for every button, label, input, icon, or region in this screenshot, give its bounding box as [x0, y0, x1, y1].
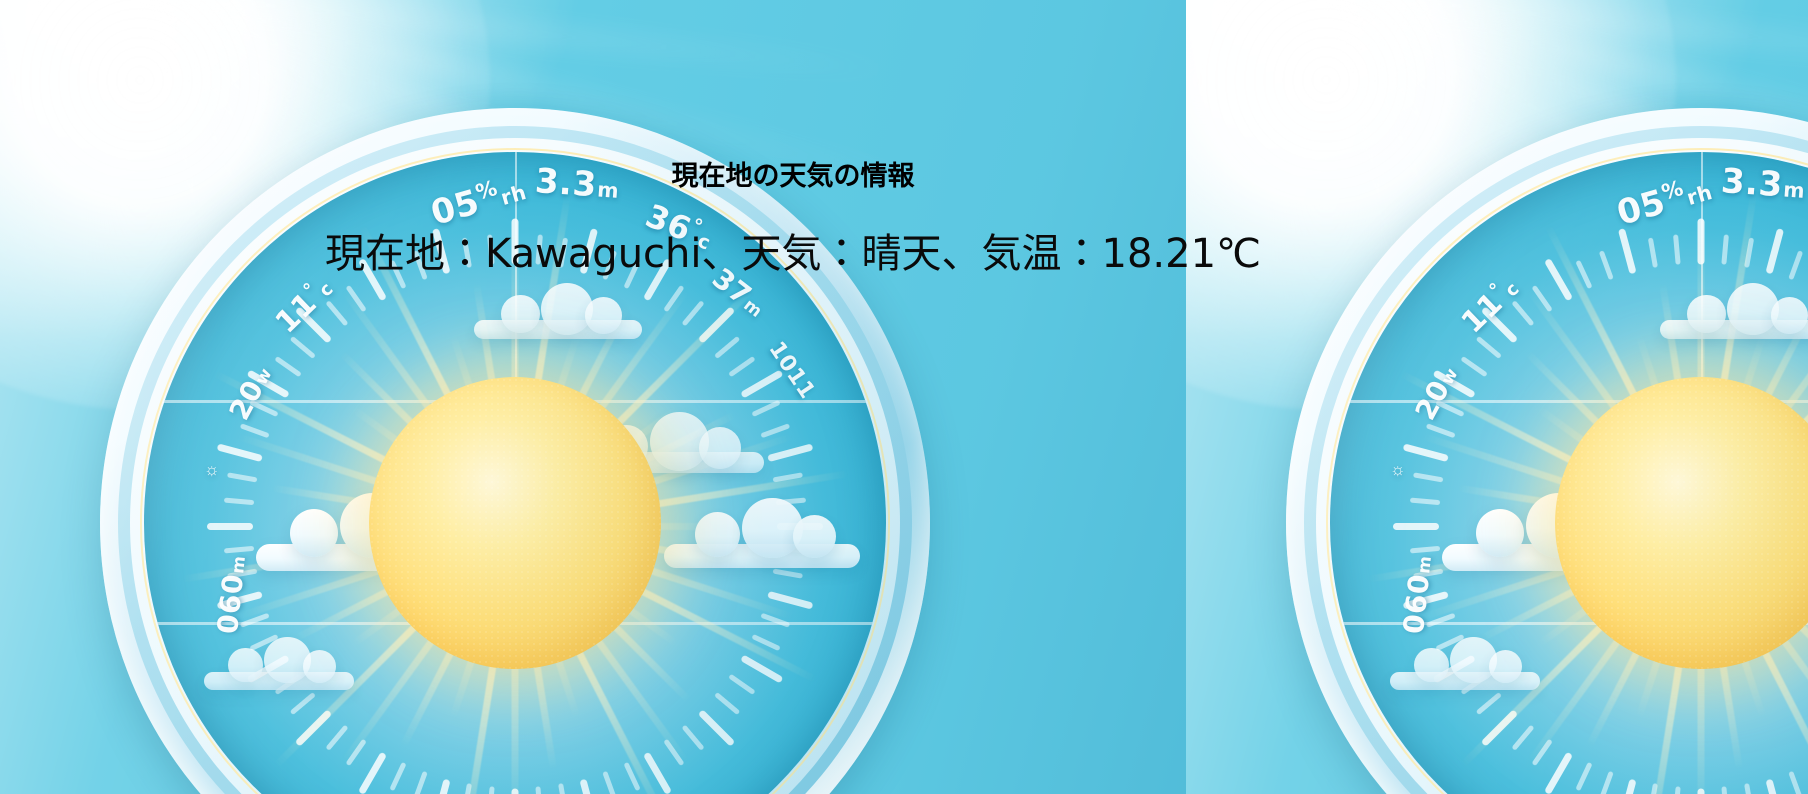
background-art-tile-primary: 05%rh3.3m36°c37m101111°c20w060m☼ — [0, 0, 1186, 794]
sky-vignette-clone — [1186, 0, 1808, 794]
weather-gauge-illustration: 05%rh3.3m36°c37m101111°c20w060m☼ — [0, 0, 1186, 794]
weather-page: 05%rh3.3m36°c37m101111°c20w060m☼ — [0, 0, 1808, 794]
background-art-tile-repeat: 05%rh3.3m36°c37m101111°c20w060m☼ — [1186, 0, 1808, 794]
weather-summary-line: 現在地：Kawaguchi、天気：晴天、気温：18.21℃ — [0, 226, 1586, 282]
page-title: 現在地の天気の情報 — [0, 160, 1586, 194]
sky-vignette — [0, 0, 1186, 794]
weather-gauge-illustration-clone: 05%rh3.3m36°c37m101111°c20w060m☼ — [1186, 0, 1808, 794]
